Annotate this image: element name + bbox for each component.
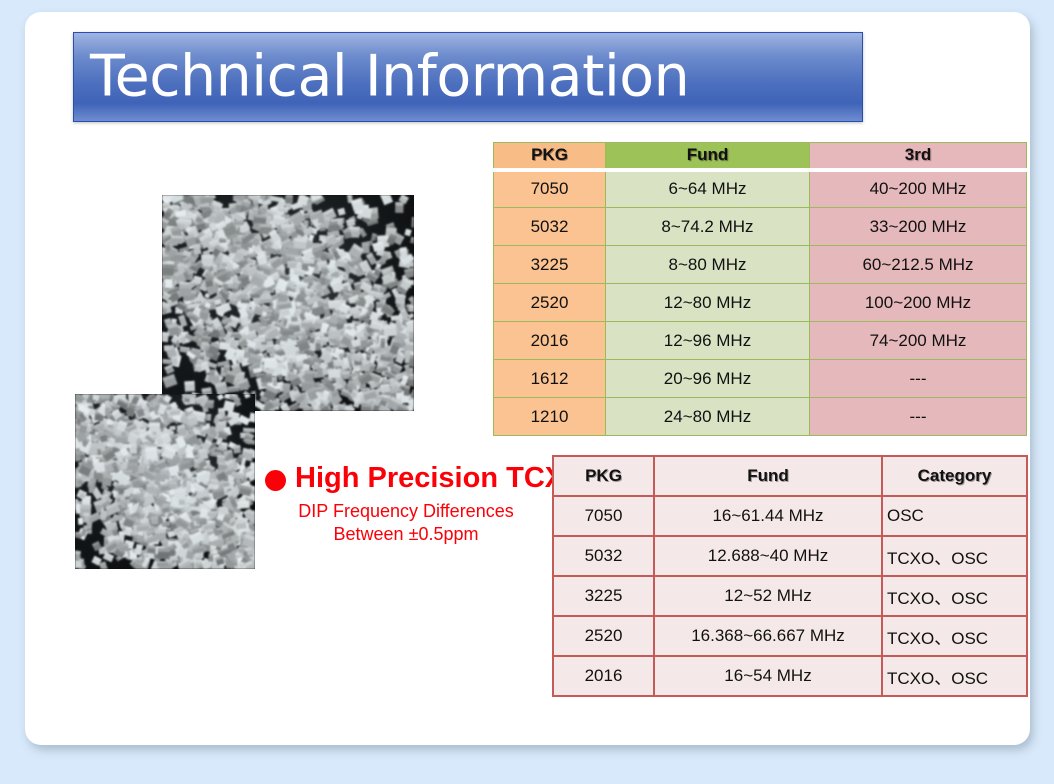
cell-pkg: 7050: [553, 496, 654, 536]
cell-fund: 12~80 MHz: [606, 284, 810, 322]
cell-pkg: 3225: [494, 246, 606, 284]
cell-third: 100~200 MHz: [810, 284, 1027, 322]
table-row: 50328~74.2 MHz33~200 MHz: [494, 208, 1027, 246]
cell-pkg: 2520: [494, 284, 606, 322]
cell-fund: 16~54 MHz: [654, 656, 882, 696]
cell-category: TCXO、OSC: [882, 576, 1027, 616]
column-header-fund: Fund: [606, 143, 810, 170]
cell-pkg: 1612: [494, 360, 606, 398]
table-row: 705016~61.44 MHzOSC: [553, 496, 1027, 536]
bullet-dot-icon: [265, 470, 286, 491]
tcxo-category-table: PKG Fund Category 705016~61.44 MHzOSC503…: [552, 455, 1028, 697]
cell-pkg: 2016: [494, 322, 606, 360]
table-row: 70506~64 MHz40~200 MHz: [494, 170, 1027, 208]
cell-pkg: 5032: [494, 208, 606, 246]
cell-third: 74~200 MHz: [810, 322, 1027, 360]
column-header-category: Category: [882, 456, 1027, 496]
page-title: Technical Information: [90, 49, 689, 106]
high-precision-callout: High Precision TCXO： DIP Frequency Diffe…: [265, 462, 547, 545]
cell-third: 33~200 MHz: [810, 208, 1027, 246]
table-row: 252012~80 MHz100~200 MHz: [494, 284, 1027, 322]
cell-pkg: 2520: [553, 616, 654, 656]
table-row: 121024~80 MHz---: [494, 398, 1027, 436]
cell-fund: 20~96 MHz: [606, 360, 810, 398]
cell-pkg: 2016: [553, 656, 654, 696]
frequency-range-table: PKG Fund 3rd 70506~64 MHz40~200 MHz50328…: [493, 142, 1027, 436]
column-header-pkg: PKG: [553, 456, 654, 496]
callout-subtitle-line2: Between ±0.5ppm: [265, 523, 547, 546]
cell-category: OSC: [882, 496, 1027, 536]
cell-third: 40~200 MHz: [810, 170, 1027, 208]
table-row: 503212.688~40 MHzTCXO、OSC: [553, 536, 1027, 576]
table-header-row: PKG Fund 3rd: [494, 143, 1027, 170]
cell-fund: 8~80 MHz: [606, 246, 810, 284]
cell-third: ---: [810, 360, 1027, 398]
cell-third: 60~212.5 MHz: [810, 246, 1027, 284]
cell-pkg: 3225: [553, 576, 654, 616]
cell-fund: 12~96 MHz: [606, 322, 810, 360]
callout-subtitle-line1: DIP Frequency Differences: [265, 500, 547, 523]
column-header-pkg: PKG: [494, 143, 606, 170]
column-header-third: 3rd: [810, 143, 1027, 170]
crystal-components-photo-top: [162, 195, 414, 411]
cell-category: TCXO、OSC: [882, 616, 1027, 656]
cell-fund: 12~52 MHz: [654, 576, 882, 616]
slide-panel: Technical Information High Precision TCX…: [25, 12, 1030, 745]
cell-category: TCXO、OSC: [882, 656, 1027, 696]
table-row: 322512~52 MHzTCXO、OSC: [553, 576, 1027, 616]
crystal-components-photo-bottom: [75, 394, 255, 569]
cell-pkg: 1210: [494, 398, 606, 436]
cell-fund: 16.368~66.667 MHz: [654, 616, 882, 656]
table-row: 32258~80 MHz60~212.5 MHz: [494, 246, 1027, 284]
cell-fund: 16~61.44 MHz: [654, 496, 882, 536]
table-row: 201616~54 MHzTCXO、OSC: [553, 656, 1027, 696]
cell-fund: 12.688~40 MHz: [654, 536, 882, 576]
callout-heading: High Precision TCXO：: [265, 462, 547, 495]
table-row: 161220~96 MHz---: [494, 360, 1027, 398]
table-row: 201612~96 MHz74~200 MHz: [494, 322, 1027, 360]
cell-third: ---: [810, 398, 1027, 436]
title-banner: Technical Information: [73, 32, 863, 122]
cell-fund: 24~80 MHz: [606, 398, 810, 436]
cell-fund: 8~74.2 MHz: [606, 208, 810, 246]
callout-subtitle: DIP Frequency Differences Between ±0.5pp…: [265, 500, 547, 545]
table-header-row: PKG Fund Category: [553, 456, 1027, 496]
cell-category: TCXO、OSC: [882, 536, 1027, 576]
table-row: 252016.368~66.667 MHzTCXO、OSC: [553, 616, 1027, 656]
cell-fund: 6~64 MHz: [606, 170, 810, 208]
cell-pkg: 5032: [553, 536, 654, 576]
cell-pkg: 7050: [494, 170, 606, 208]
column-header-fund: Fund: [654, 456, 882, 496]
